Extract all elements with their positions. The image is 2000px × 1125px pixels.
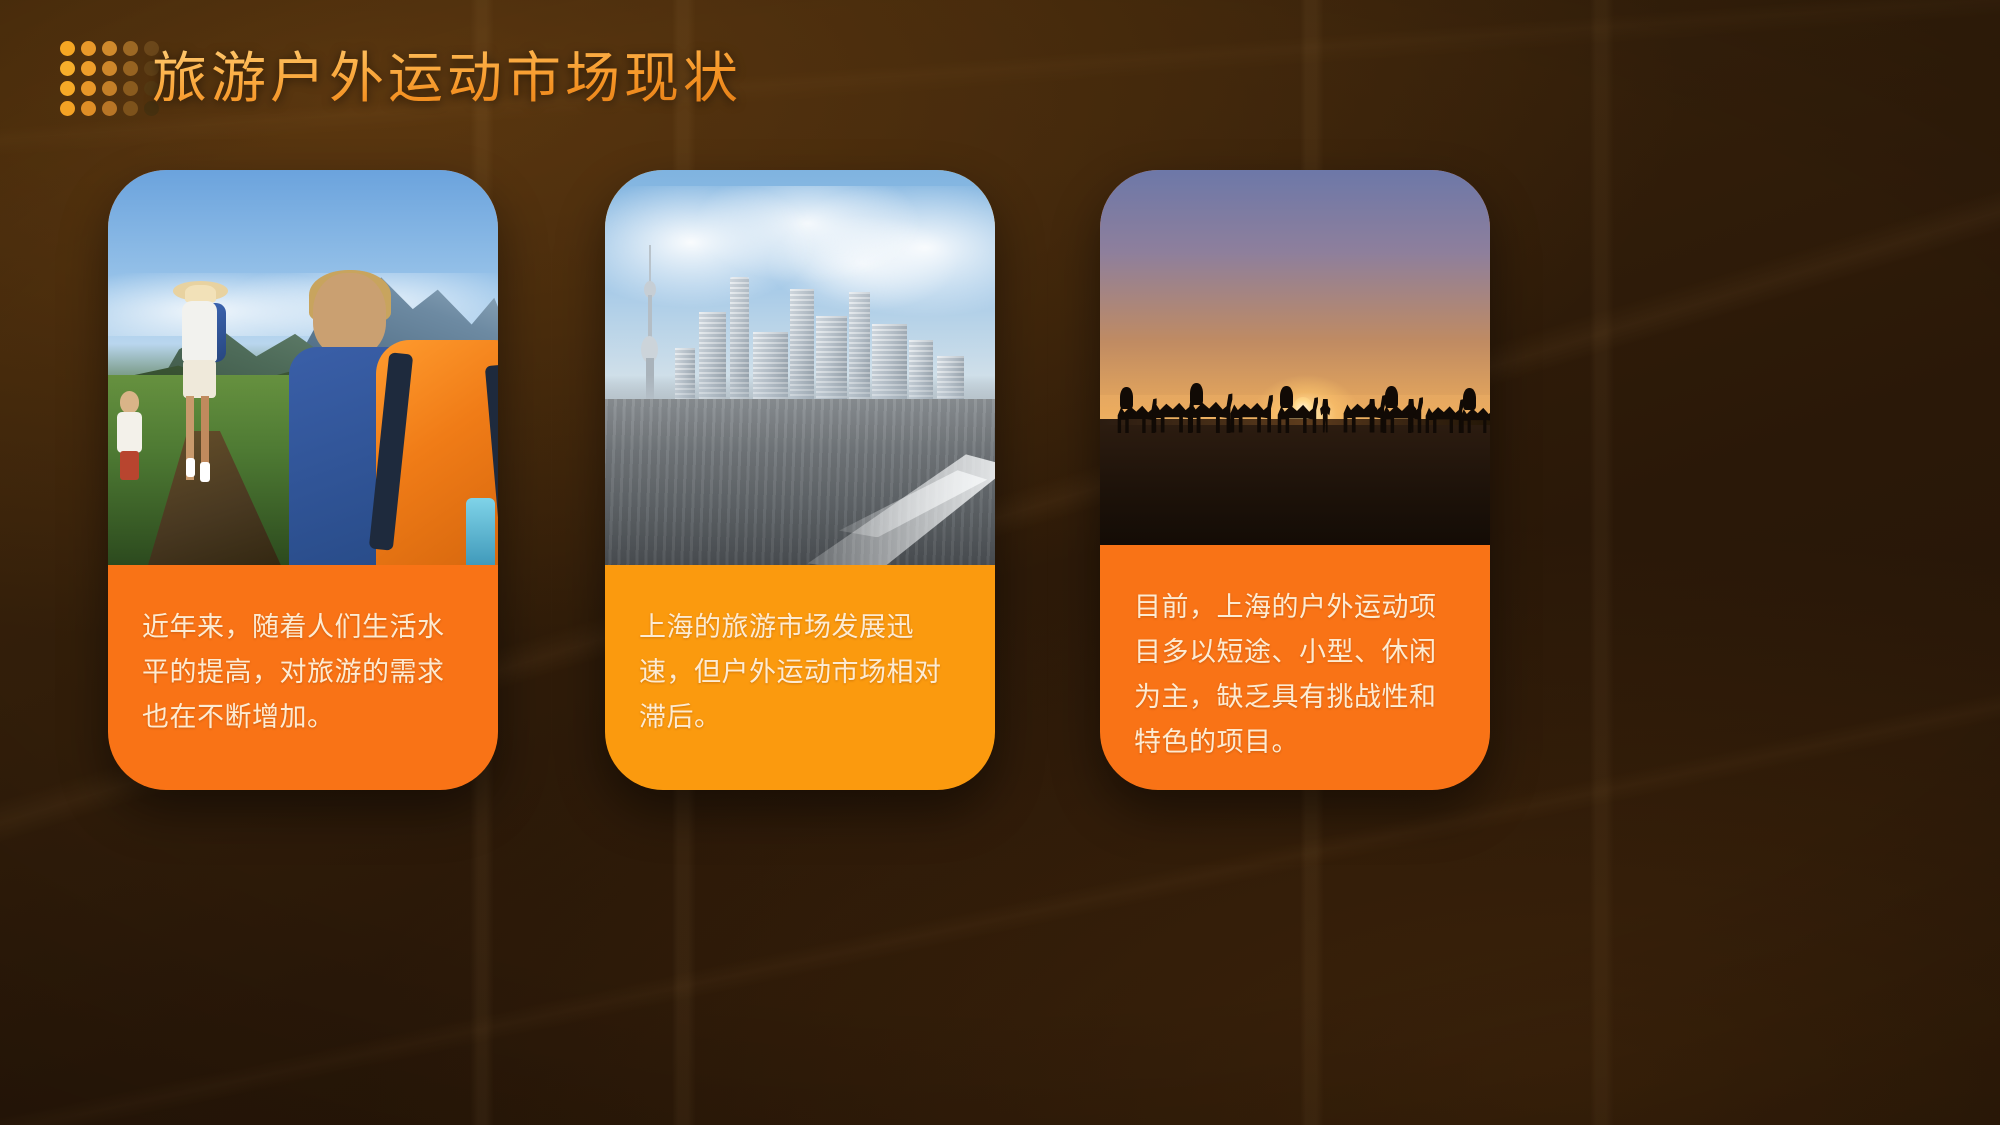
info-card-1[interactable]: 近年来，随着人们生活水平的提高，对旅游的需求也在不断增加。 (108, 170, 498, 790)
slide-header: 旅游户外运动市场现状 (0, 0, 2000, 165)
grid-dot (123, 41, 138, 56)
info-card-2[interactable]: 上海的旅游市场发展迅速，但户外运动市场相对滞后。 (605, 170, 995, 790)
info-card-2-text: 上海的旅游市场发展迅速，但户外运动市场相对滞后。 (605, 565, 995, 790)
hikers-mountain-trail-photo (108, 170, 498, 565)
card-row: 近年来，随着人们生活水平的提高，对旅游的需求也在不断增加。 上海的旅 (0, 170, 2000, 810)
grid-dot (102, 101, 117, 116)
grid-dot (102, 61, 117, 76)
walking-person-silhouette (1318, 399, 1332, 433)
info-card-3-text: 目前，上海的户外运动项目多以短途、小型、休闲为主，缺乏具有挑战性和特色的项目。 (1100, 545, 1490, 790)
grid-dot (60, 41, 75, 56)
info-card-3[interactable]: 目前，上海的户外运动项目多以短途、小型、休闲为主，缺乏具有挑战性和特色的项目。 (1100, 170, 1490, 790)
camel-rider-silhouette (1280, 386, 1293, 408)
hiker-with-blue-backpack (163, 281, 237, 502)
grid-dot (123, 61, 138, 76)
dot-grid-decoration (57, 38, 162, 118)
grid-dot (60, 101, 75, 116)
grid-dot (81, 101, 96, 116)
grid-dot (81, 61, 96, 76)
camel-rider-silhouette (1120, 387, 1133, 409)
grid-dot (81, 41, 96, 56)
child-figure (112, 391, 147, 494)
page-title: 旅游户外运动市场现状 (152, 43, 742, 115)
grid-dot (60, 81, 75, 96)
grid-dot (123, 81, 138, 96)
camel-caravan-sunset-photo (1100, 170, 1490, 545)
grid-dot (102, 81, 117, 96)
camel-silhouette (1229, 393, 1275, 433)
camel-silhouette (1342, 393, 1388, 433)
camel-caravan-silhouettes (1100, 170, 1490, 545)
camel-rider-silhouette (1463, 388, 1476, 410)
camel-rider-silhouette (1385, 386, 1398, 408)
grid-dot (81, 81, 96, 96)
grid-dot (60, 61, 75, 76)
info-card-1-text: 近年来，随着人们生活水平的提高，对旅游的需求也在不断增加。 (108, 565, 498, 790)
hiker-with-orange-backpack (280, 273, 498, 565)
camel-silhouette (1424, 397, 1465, 433)
slide-root: 旅游户外运动市场现状 (0, 0, 2000, 1125)
grid-dot (123, 101, 138, 116)
grid-dot (102, 41, 117, 56)
camel-rider-silhouette (1190, 383, 1203, 405)
shanghai-skyline-highway-photo (605, 170, 995, 565)
